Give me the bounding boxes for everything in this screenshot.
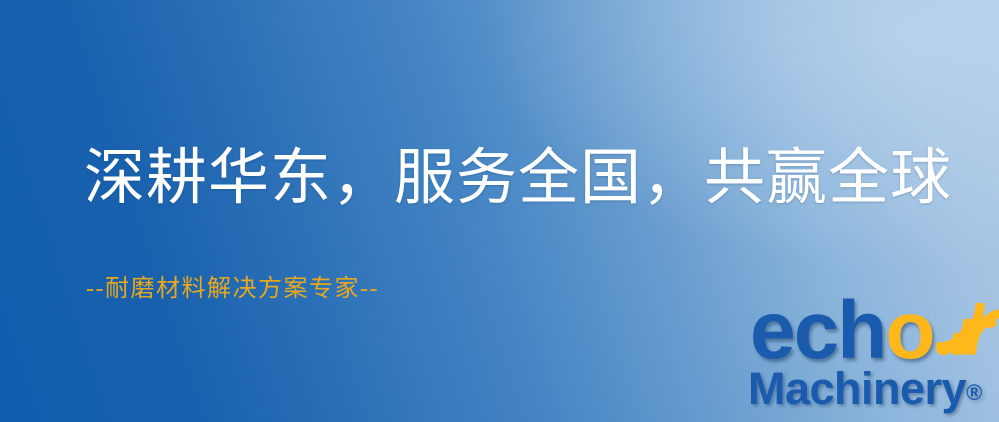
- logo-machinery-text: Machinery: [748, 363, 966, 414]
- logo-wordmark-machinery: Machinery®: [748, 366, 982, 411]
- registered-trademark-icon: ®: [966, 380, 982, 405]
- logo-wordmark-echo: echo: [750, 290, 933, 372]
- banner-subtitle: --耐磨材料解决方案专家--: [86, 268, 379, 303]
- signal-waves-icon: [934, 293, 999, 355]
- banner-headline: 深耕华东，服务全国，共赢全球: [84, 148, 944, 209]
- company-logo[interactable]: echo Machinery®: [748, 296, 999, 422]
- promo-banner: 深耕华东，服务全国，共赢全球 --耐磨材料解决方案专家-- echo: [0, 0, 999, 422]
